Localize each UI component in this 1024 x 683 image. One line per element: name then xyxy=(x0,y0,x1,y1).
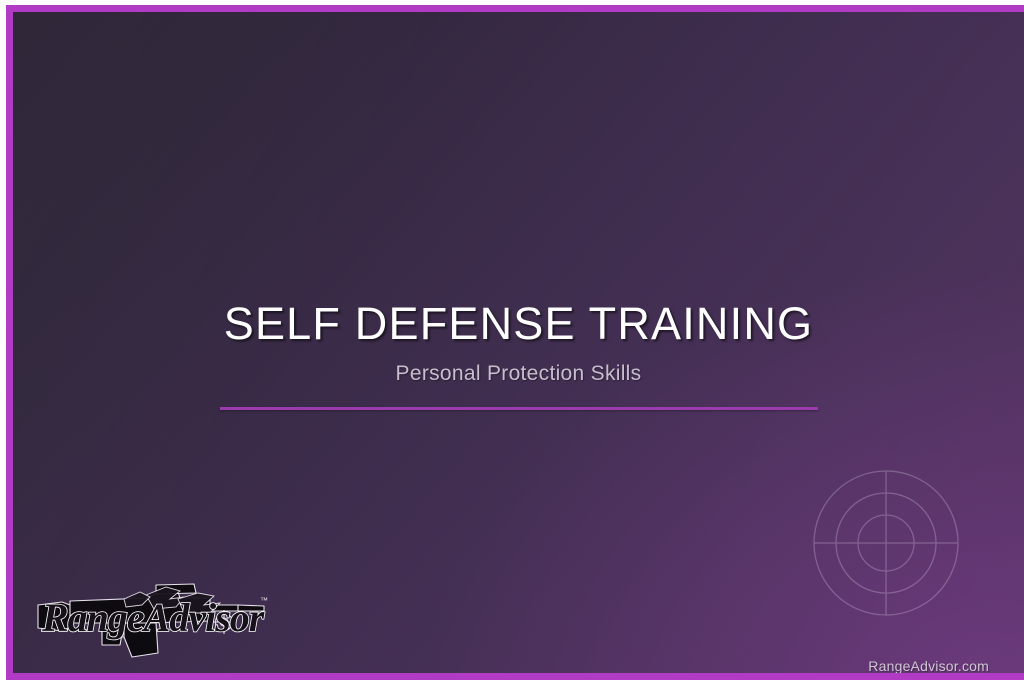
slide-canvas: SELF DEFENSE TRAINING Personal Protectio… xyxy=(13,12,1024,673)
page-title: SELF DEFENSE TRAINING xyxy=(13,300,1024,348)
brand-trademark-mark: ™ xyxy=(260,596,268,605)
slide-frame: SELF DEFENSE TRAINING Personal Protectio… xyxy=(0,0,1024,683)
title-divider-rule xyxy=(220,407,818,410)
crosshair-target-icon xyxy=(800,457,972,629)
headline-block: SELF DEFENSE TRAINING Personal Protectio… xyxy=(13,300,1024,410)
brand-logo: RangeAdvisor ™ xyxy=(28,565,278,665)
brand-wordmark: RangeAdvisor xyxy=(41,595,265,640)
page-subtitle: Personal Protection Skills xyxy=(13,361,1024,386)
site-url-label: RangeAdvisor.com xyxy=(868,658,989,673)
